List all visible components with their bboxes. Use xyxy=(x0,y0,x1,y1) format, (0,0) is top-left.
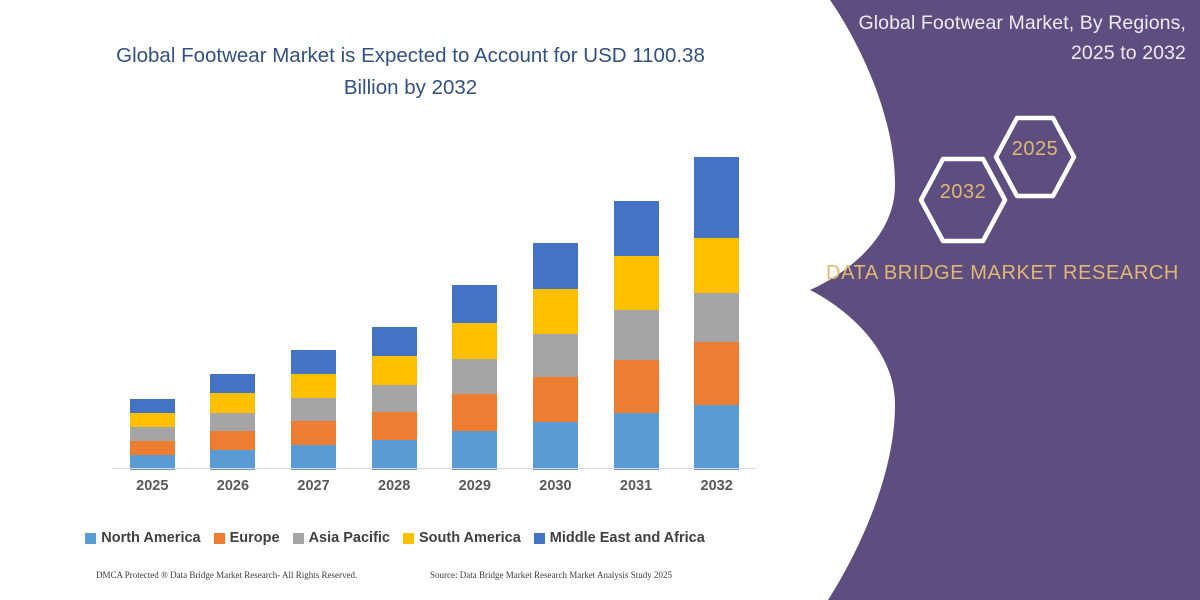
bar-column-2030 xyxy=(533,243,578,470)
bar-segment xyxy=(533,377,578,422)
bar-segment xyxy=(452,285,497,323)
bar-segment xyxy=(614,310,659,361)
bar-column-2028 xyxy=(372,327,417,470)
bar-segment xyxy=(210,431,255,450)
bar-segment xyxy=(694,405,739,470)
bar-segment xyxy=(130,427,175,441)
bar-segment xyxy=(210,374,255,393)
bar-segment xyxy=(533,422,578,470)
bar-segment xyxy=(533,334,578,377)
bar-segment xyxy=(372,327,417,356)
hexagon-start-year-label: 2025 xyxy=(990,138,1080,161)
legend-item[interactable]: Asia Pacific xyxy=(293,530,390,546)
x-axis-label-2025: 2025 xyxy=(112,478,192,494)
legend-swatch-icon xyxy=(293,533,304,544)
bar-segment xyxy=(130,441,175,455)
x-axis-labels: 20252026202720282029203020312032 xyxy=(112,478,757,500)
brand-panel: Global Footwear Market, By Regions, 2025… xyxy=(800,0,1200,600)
bar-segment xyxy=(291,398,336,421)
legend-swatch-icon xyxy=(534,533,545,544)
legend-label: Middle East and Africa xyxy=(550,530,705,546)
chart-plot-area xyxy=(112,140,757,470)
bar-segment xyxy=(372,412,417,440)
legend-item[interactable]: South America xyxy=(403,530,521,546)
bar-segment xyxy=(452,394,497,431)
bar-segment xyxy=(291,350,336,374)
bar-column-2027 xyxy=(291,350,336,470)
bar-segment xyxy=(614,360,659,413)
bar-segment xyxy=(614,256,659,310)
chart-legend: North AmericaEuropeAsia PacificSouth Ame… xyxy=(0,530,790,546)
bar-segment xyxy=(372,385,417,412)
bar-segment xyxy=(291,421,336,445)
x-axis-label-2029: 2029 xyxy=(435,478,515,494)
legend-label: North America xyxy=(101,530,200,546)
bar-segment xyxy=(694,157,739,238)
panel-content: Global Footwear Market, By Regions, 2025… xyxy=(800,0,1200,600)
x-axis-label-2032: 2032 xyxy=(677,478,757,494)
legend-item[interactable]: Europe xyxy=(214,530,280,546)
bar-segment xyxy=(130,413,175,427)
bar-segment xyxy=(694,293,739,343)
panel-title: Global Footwear Market, By Regions, 2025… xyxy=(818,8,1186,68)
bar-segment xyxy=(694,238,739,293)
legend-swatch-icon xyxy=(85,533,96,544)
hexagon-badge-start-year: 2025 xyxy=(990,112,1080,207)
bar-column-2029 xyxy=(452,285,497,470)
bar-column-2031 xyxy=(614,201,659,470)
legend-label: South America xyxy=(419,530,521,546)
legend-label: Asia Pacific xyxy=(309,530,390,546)
x-axis-label-2028: 2028 xyxy=(354,478,434,494)
bar-segment xyxy=(614,413,659,470)
bar-segment xyxy=(614,201,659,256)
infographic-page: Global Footwear Market is Expected to Ac… xyxy=(0,0,1200,600)
brand-name: DATA BRIDGE MARKET RESEARCH xyxy=(820,258,1185,289)
bar-segment xyxy=(210,450,255,470)
bar-segment xyxy=(533,243,578,289)
bar-segment xyxy=(291,374,336,398)
bar-segment xyxy=(210,393,255,413)
bar-segment xyxy=(452,359,497,394)
x-axis-label-2030: 2030 xyxy=(515,478,595,494)
bar-column-2025 xyxy=(130,399,175,470)
bar-segment xyxy=(694,342,739,405)
footer-dmca-notice: DMCA Protected ® Data Bridge Market Rese… xyxy=(96,570,357,580)
bar-segment xyxy=(452,323,497,360)
bar-segment xyxy=(130,399,175,413)
bar-segment xyxy=(372,356,417,385)
bar-column-2032 xyxy=(694,157,739,470)
bar-segment xyxy=(210,413,255,431)
x-axis-label-2026: 2026 xyxy=(193,478,273,494)
legend-swatch-icon xyxy=(403,533,414,544)
bar-segment xyxy=(372,440,417,470)
x-axis-label-2027: 2027 xyxy=(274,478,354,494)
legend-label: Europe xyxy=(230,530,280,546)
legend-swatch-icon xyxy=(214,533,225,544)
x-axis-label-2031: 2031 xyxy=(596,478,676,494)
legend-item[interactable]: Middle East and Africa xyxy=(534,530,705,546)
footer-source-note: Source: Data Bridge Market Research Mark… xyxy=(430,570,672,580)
x-axis-line xyxy=(112,468,757,469)
bar-segment xyxy=(452,431,497,470)
bar-column-2026 xyxy=(210,374,255,470)
legend-item[interactable]: North America xyxy=(85,530,200,546)
bar-segment xyxy=(291,445,336,470)
page-title: Global Footwear Market is Expected to Ac… xyxy=(88,40,733,104)
bar-segment xyxy=(533,289,578,335)
